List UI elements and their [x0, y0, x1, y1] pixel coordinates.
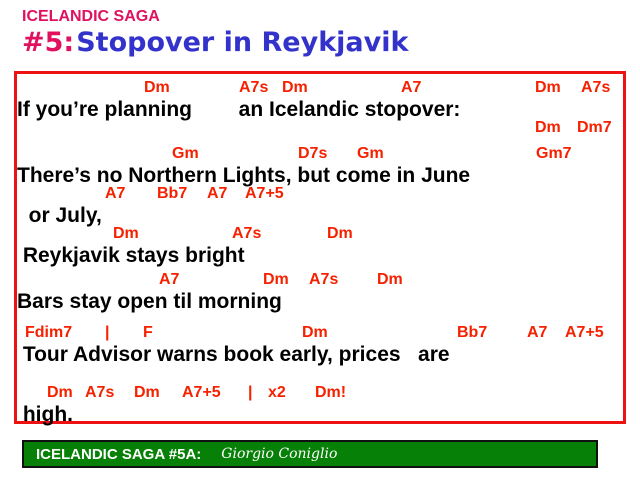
- lyrics-chords-box: DmA7sDmA7DmA7sIf you’re planning an Icel…: [14, 71, 626, 424]
- series-label: ICELANDIC SAGA: [22, 8, 622, 26]
- lyric-line: high.: [17, 402, 623, 427]
- song-line: DmDm7: [17, 118, 623, 137]
- chord-symbol: Fdim7: [25, 323, 72, 342]
- chord-symbol: A7+5: [565, 323, 604, 342]
- chord-symbol: Dm: [327, 224, 353, 243]
- title-text: Stopover in Reykjavik: [76, 27, 408, 58]
- song-line: GmD7sGmGm7There’s no Northern Lights, bu…: [17, 144, 623, 188]
- chord-symbol: x2: [268, 383, 286, 402]
- chord-symbol: A7s: [85, 383, 114, 402]
- chord-symbol: Dm: [263, 270, 289, 289]
- page-title: #5:Stopover in Reykjavik: [22, 28, 622, 62]
- lyric-line: Reykjavik stays bright: [17, 243, 623, 268]
- chord-symbol: A7: [207, 184, 227, 203]
- footer-title: ICELANDIC SAGA #5A:: [36, 446, 201, 463]
- song-sheet-page: ICELANDIC SAGA #5:Stopover in Reykjavik …: [0, 0, 640, 480]
- chord-symbol: A7: [159, 270, 179, 289]
- chord-row: DmA7sDmA7+5|x2Dm!: [17, 383, 623, 402]
- page-header: ICELANDIC SAGA #5:Stopover in Reykjavik: [22, 8, 622, 62]
- chord-symbol: Dm: [282, 78, 308, 97]
- chord-symbol: Dm: [47, 383, 73, 402]
- title-number: #5:: [22, 27, 74, 58]
- chord-symbol: A7+5: [182, 383, 221, 402]
- song-line: DmA7sDmA7DmA7sIf you’re planning an Icel…: [17, 78, 623, 122]
- song-line: A7DmA7sDmBars stay open til morning: [17, 270, 623, 314]
- lyrics-chords-content: DmA7sDmA7DmA7sIf you’re planning an Icel…: [17, 74, 623, 421]
- song-line: Fdim7|FDmBb7A7A7+5 Tour Advisor warns bo…: [17, 323, 623, 367]
- lyric-line: Tour Advisor warns book early, prices ar…: [17, 342, 623, 367]
- chord-symbol: Gm7: [536, 144, 572, 163]
- chord-row: A7DmA7sDm: [17, 270, 623, 289]
- chord-row: A7Bb7A7A7+5: [17, 184, 623, 203]
- chord-symbol: Dm: [144, 78, 170, 97]
- chord-row: GmD7sGmGm7: [17, 144, 623, 163]
- chord-row: DmDm7: [17, 118, 623, 137]
- chord-row: Fdim7|FDmBb7A7A7+5: [17, 323, 623, 342]
- chord-symbol: A7: [527, 323, 547, 342]
- chord-symbol: Gm: [357, 144, 384, 163]
- chord-symbol: Bb7: [457, 323, 487, 342]
- chord-symbol: Dm: [113, 224, 139, 243]
- chord-symbol: |: [248, 383, 252, 402]
- lyric-line: Bars stay open til morning: [17, 289, 623, 314]
- chord-symbol: Dm: [377, 270, 403, 289]
- chord-row: DmA7sDmA7DmA7s: [17, 78, 623, 97]
- chord-symbol: A7: [401, 78, 421, 97]
- chord-symbol: D7s: [298, 144, 327, 163]
- chord-symbol: A7s: [232, 224, 261, 243]
- chord-symbol: Dm7: [577, 118, 612, 137]
- chord-symbol: Dm: [535, 118, 561, 137]
- chord-symbol: Dm!: [315, 383, 346, 402]
- chord-symbol: A7s: [239, 78, 268, 97]
- footer-author: Giorgio Coniglio: [221, 446, 337, 462]
- song-line: A7Bb7A7A7+5 or July,: [17, 184, 623, 228]
- chord-symbol: F: [143, 323, 153, 342]
- chord-symbol: A7: [105, 184, 125, 203]
- chord-symbol: Dm: [134, 383, 160, 402]
- chord-symbol: A7s: [581, 78, 610, 97]
- chord-symbol: Bb7: [157, 184, 187, 203]
- chord-symbol: A7s: [309, 270, 338, 289]
- chord-symbol: A7+5: [245, 184, 284, 203]
- chord-row: DmA7sDm: [17, 224, 623, 243]
- footer-bar: ICELANDIC SAGA #5A: Giorgio Coniglio: [22, 440, 598, 468]
- song-line: DmA7sDm Reykjavik stays bright: [17, 224, 623, 268]
- chord-symbol: |: [105, 323, 109, 342]
- chord-symbol: Dm: [535, 78, 561, 97]
- song-line: DmA7sDmA7+5|x2Dm! high.: [17, 383, 623, 427]
- chord-symbol: Dm: [302, 323, 328, 342]
- chord-symbol: Gm: [172, 144, 199, 163]
